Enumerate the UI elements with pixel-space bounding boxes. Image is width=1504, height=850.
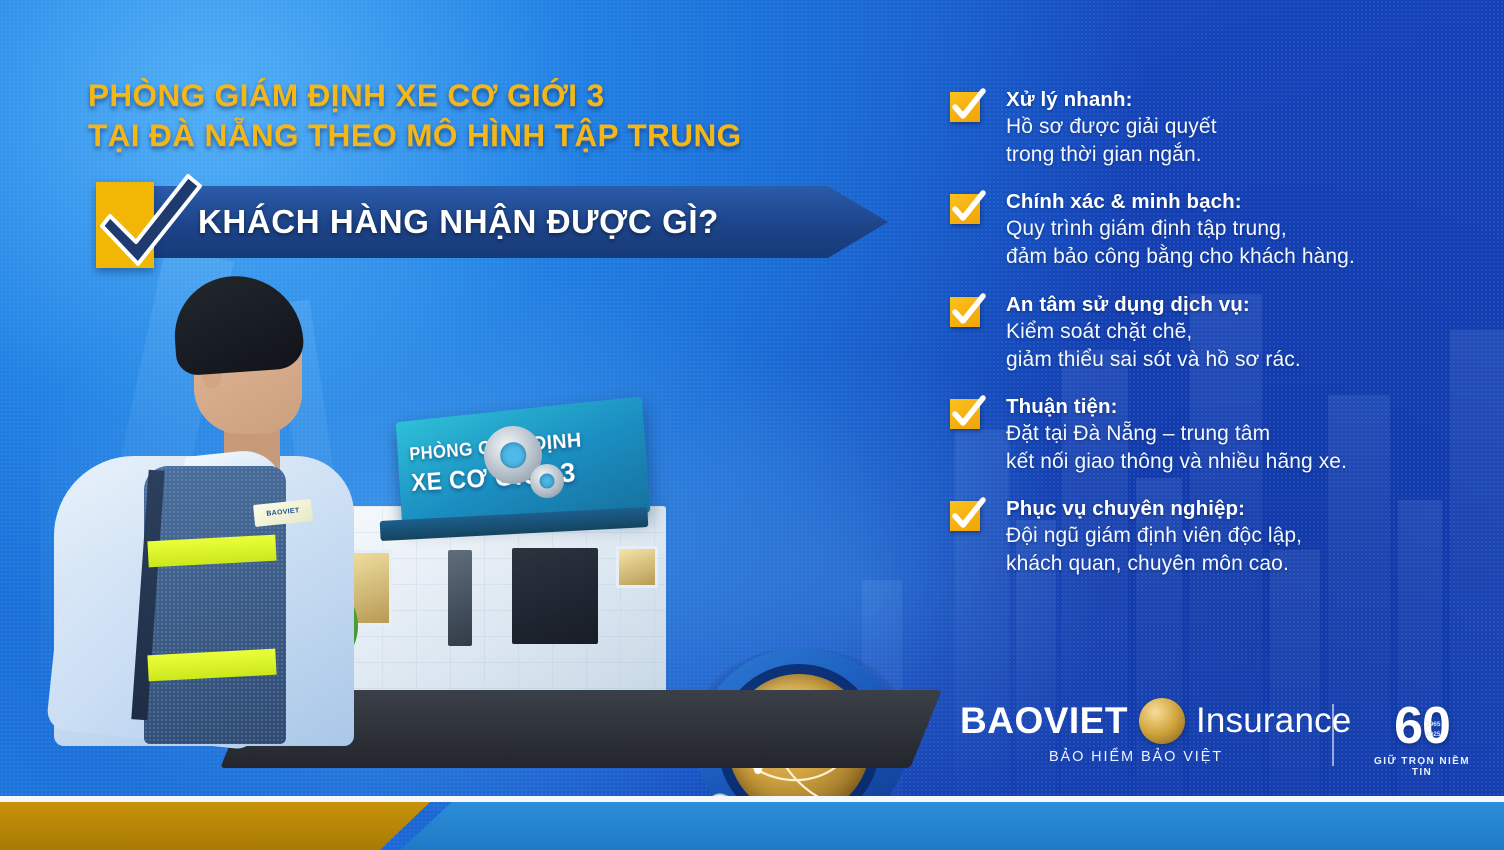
benefit-line: trong thời gian ngắn. (1006, 141, 1468, 169)
logo-product-text: Insurance (1196, 701, 1352, 741)
list-item: Chính xác & minh bạch: Quy trình giám đị… (948, 188, 1468, 271)
benefit-line: Hồ sơ được giải quyết (1006, 113, 1468, 141)
benefit-line: giảm thiểu sai sót và hồ sơ rác. (1006, 346, 1468, 374)
benefits-list: Xử lý nhanh: Hồ sơ được giải quyết trong… (948, 86, 1468, 597)
bottom-white-divider (0, 796, 1504, 802)
logo-brand-text: BAOVIET (960, 700, 1128, 742)
list-item: Phục vụ chuyên nghiệp: Đội ngũ giám định… (948, 495, 1468, 578)
anniversary-year-to: 2025 (1426, 730, 1440, 740)
headline-line-2: TẠI ĐÀ NẴNG THEO MÔ HÌNH TẬP TRUNG (88, 116, 898, 156)
benefit-line: khách quan, chuyên môn cao. (1006, 550, 1468, 578)
building-window-right (616, 546, 658, 588)
building-side-door (448, 550, 472, 646)
check-box-glyph (948, 497, 988, 535)
benefit-line: Quy trình giám định tập trung, (1006, 215, 1468, 243)
building-garage-door (512, 548, 598, 644)
brand-logo-area: BAOVIET Insurance BẢO (960, 698, 1480, 786)
check-box-icon (948, 88, 988, 126)
inspector-person: BAOVIET (36, 270, 366, 740)
check-box-glyph (948, 88, 988, 126)
check-box-icon (948, 497, 988, 535)
illustration-scene: PHÒNG GIÁM ĐỊNH XE CƠ GIỚI 3 (0, 250, 960, 830)
benefit-title: Thuận tiện: (1006, 393, 1468, 420)
benefit-line: Kiểm soát chặt chẽ, (1006, 318, 1468, 346)
anniversary-slogan: GIỮ TRỌN NIỀM TIN (1364, 756, 1480, 778)
logo-divider (1332, 704, 1334, 766)
person-hair (171, 272, 305, 377)
headline-line-1: PHÒNG GIÁM ĐỊNH XE CƠ GIỚI 3 (88, 76, 898, 116)
benefit-title: Chính xác & minh bạch: (1006, 188, 1468, 215)
benefit-line: kết nối giao thông và nhiều hãng xe. (1006, 448, 1468, 476)
benefit-title: Xử lý nhanh: (1006, 86, 1468, 113)
infographic-canvas: PHÒNG GIÁM ĐỊNH XE CƠ GIỚI 3 TẠI ĐÀ NẴNG… (0, 0, 1504, 850)
list-item: Xử lý nhanh: Hồ sơ được giải quyết trong… (948, 86, 1468, 169)
check-box-icon (948, 395, 988, 433)
globe-sphere (1139, 698, 1185, 744)
page-title: PHÒNG GIÁM ĐỊNH XE CƠ GIỚI 3 TẠI ĐÀ NẴNG… (88, 76, 898, 155)
benefit-line: Đặt tại Đà Nẵng – trung tâm (1006, 420, 1468, 448)
question-banner-label: KHÁCH HÀNG NHẬN ĐƯỢC GÌ? (198, 203, 719, 241)
benefit-title: An tâm sử dụng dịch vụ: (1006, 291, 1468, 318)
gear-icon-small (530, 464, 564, 498)
question-banner: KHÁCH HÀNG NHẬN ĐƯỢC GÌ? (120, 186, 888, 258)
benefit-line: đảm bảo công bằng cho khách hàng. (1006, 243, 1468, 271)
anniversary-year-from: 1965 (1426, 720, 1440, 730)
anniversary-badge: 60 1965 2025 GIỮ TRỌN NIỀM TIN (1364, 700, 1480, 782)
check-box-glyph (948, 395, 988, 433)
list-item: Thuận tiện: Đặt tại Đà Nẵng – trung tâm … (948, 393, 1468, 476)
anniversary-years: 1965 2025 (1426, 720, 1440, 740)
network-globe-icon (1139, 698, 1185, 744)
check-box-glyph (948, 293, 988, 331)
benefit-line: Đội ngũ giám định viên độc lập, (1006, 522, 1468, 550)
check-box-icon (948, 293, 988, 331)
list-item: An tâm sử dụng dịch vụ: Kiểm soát chặt c… (948, 291, 1468, 374)
check-box-glyph (948, 190, 988, 228)
anniversary-number: 60 (1364, 700, 1480, 752)
check-box-icon (948, 190, 988, 228)
benefit-title: Phục vụ chuyên nghiệp: (1006, 495, 1468, 522)
logo-subtitle: BẢO HIỂM BẢO VIỆT (960, 749, 1312, 765)
